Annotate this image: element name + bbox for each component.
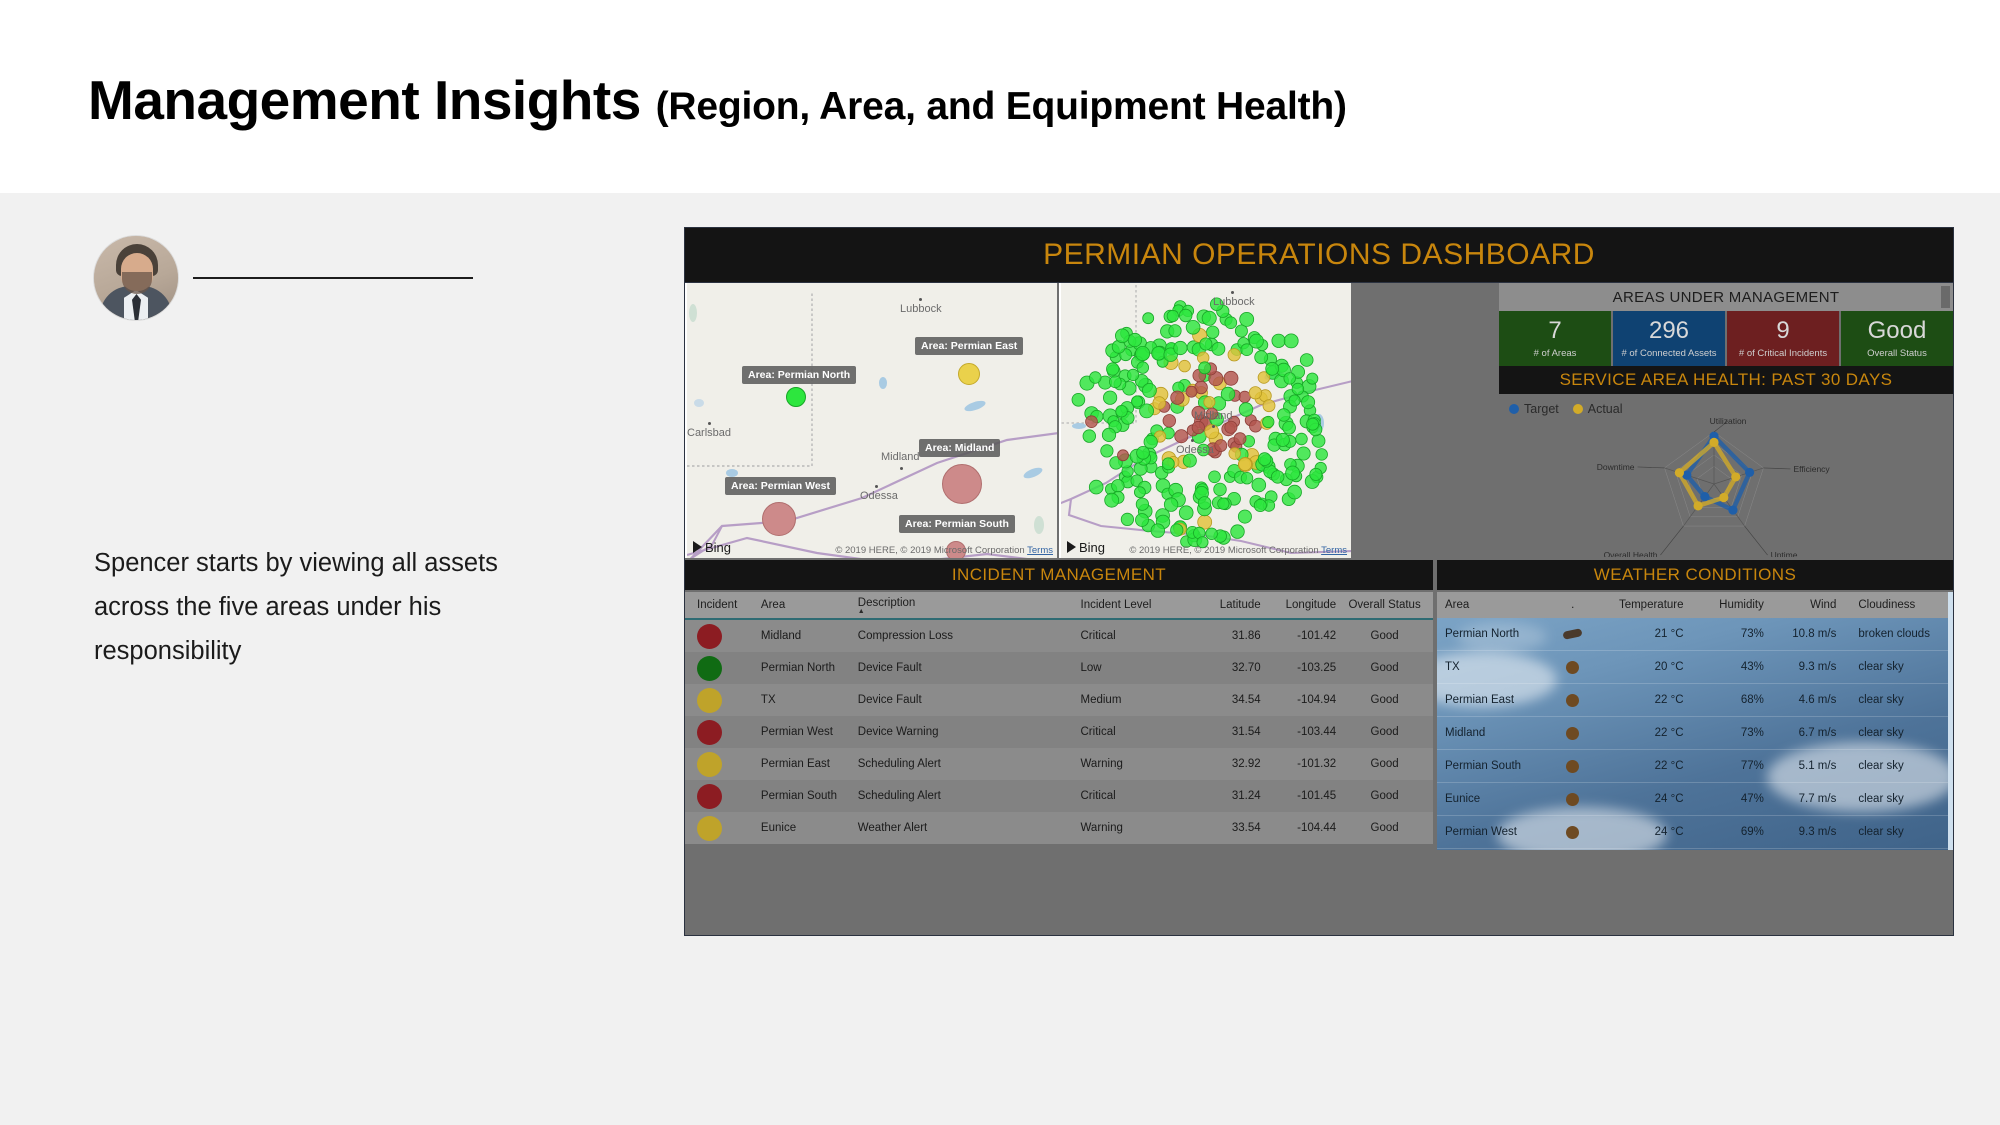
asset-dot[interactable]: [1144, 435, 1157, 448]
asset-dot[interactable]: [1198, 497, 1211, 510]
table-row[interactable]: Permian EastScheduling AlertWarning32.92…: [685, 748, 1433, 780]
cell-humidity: 77%: [1700, 760, 1774, 772]
service-area-health-header: SERVICE AREA HEALTH: PAST 30 DAYS: [1499, 366, 1953, 394]
asset-dot[interactable]: [1118, 450, 1129, 461]
cell-weather-area: TX: [1437, 661, 1536, 673]
radar-point-actual-3[interactable]: [1694, 501, 1703, 510]
avatar-row: [94, 236, 473, 320]
kpi-label: # of Areas: [1534, 348, 1577, 359]
sun-icon: [1566, 793, 1579, 806]
table-row[interactable]: Permian North21 °C73%10.8 m/sbroken clou…: [1437, 618, 1953, 651]
service-area-health-chart[interactable]: TargetActual UtilizationEfficiencyUptime…: [1499, 394, 1953, 558]
col-latitude[interactable]: Latitude: [1195, 599, 1261, 611]
asset-dot[interactable]: [1199, 362, 1211, 374]
asset-dot[interactable]: [1286, 466, 1300, 480]
weather-rows: Permian North21 °C73%10.8 m/sbroken clou…: [1437, 618, 1953, 849]
asset-dot[interactable]: [1102, 428, 1115, 441]
area-tag-permian-north[interactable]: Area: Permian North: [742, 366, 856, 384]
city-dot: [875, 485, 878, 488]
cell-weather-icon: [1536, 826, 1610, 839]
cell-area: Permian East: [761, 758, 858, 770]
incident-rows: MidlandCompression LossCritical31.86-101…: [685, 620, 1433, 844]
asset-dot[interactable]: [1228, 349, 1240, 361]
map-bubble-midland[interactable]: [942, 464, 982, 504]
cell-humidity: 47%: [1700, 793, 1774, 805]
asset-dot[interactable]: [1263, 416, 1274, 427]
asset-dot[interactable]: [1116, 405, 1128, 417]
cell-temperature: 21 °C: [1610, 628, 1700, 640]
areas-under-management-header: AREAS UNDER MANAGEMENT: [1499, 283, 1953, 311]
page-title-sub: (Region, Area, and Equipment Health): [656, 85, 1347, 128]
bottom-row: INCIDENT MANAGEMENT WEATHER CONDITIONS I…: [685, 560, 1953, 935]
weather-scrollbar[interactable]: [1948, 592, 1953, 850]
page-title: Management Insights (Region, Area, and E…: [88, 68, 1347, 132]
asset-dot[interactable]: [1083, 430, 1096, 443]
col-area[interactable]: Area: [761, 599, 858, 611]
city-label-odessa-2: Odessa: [1176, 444, 1214, 456]
asset-dot[interactable]: [1136, 514, 1149, 527]
asset-dot[interactable]: [1153, 397, 1166, 410]
asset-dot[interactable]: [1238, 510, 1251, 523]
cell-level: Warning: [1081, 758, 1195, 770]
cell-description: Compression Loss: [858, 630, 1081, 642]
asset-dot[interactable]: [1218, 498, 1229, 509]
area-tag-permian-south[interactable]: Area: Permian South: [899, 515, 1015, 533]
asset-dot[interactable]: [1307, 418, 1319, 430]
cell-weather-area: Permian East: [1437, 694, 1536, 706]
asset-dot[interactable]: [1169, 325, 1181, 337]
asset-dot[interactable]: [1115, 329, 1129, 343]
asset-dot[interactable]: [1241, 344, 1253, 356]
radar-label-leader: [1763, 468, 1790, 469]
cell-weather-icon: [1536, 727, 1610, 740]
city-dot: [919, 298, 922, 301]
asset-dot[interactable]: [1249, 387, 1261, 399]
asset-dot[interactable]: [1266, 362, 1279, 375]
asset-dot[interactable]: [1300, 354, 1313, 367]
cell-humidity: 69%: [1700, 826, 1774, 838]
cell-level: Medium: [1081, 694, 1195, 706]
radar-axis-label-utilization: Utilization: [1710, 416, 1747, 426]
cell-weather-area: Eunice: [1437, 793, 1536, 805]
asset-density-map[interactable]: Lubbock Midland Odessa Bing © 2019 HERE,…: [1059, 283, 1351, 558]
table-row[interactable]: Permian East22 °C68%4.6 m/sclear sky: [1437, 684, 1953, 717]
incident-management-table[interactable]: Incident Area Description▲ Incident Leve…: [685, 592, 1433, 844]
cell-status: Good: [1336, 694, 1433, 706]
kpi-value: 7: [1548, 319, 1561, 343]
incident-indicator-cell: [685, 656, 761, 681]
asset-dot[interactable]: [1209, 471, 1221, 483]
radar-point-target-2[interactable]: [1728, 505, 1737, 514]
status-led-icon: [697, 752, 722, 777]
asset-dot[interactable]: [1089, 480, 1103, 494]
cell-status: Good: [1336, 662, 1433, 674]
cell-description: Scheduling Alert: [858, 758, 1081, 770]
incident-table-header: Incident Area Description▲ Incident Leve…: [685, 592, 1433, 620]
asset-dot[interactable]: [1121, 513, 1133, 525]
incident-management-header: INCIDENT MANAGEMENT: [685, 560, 1433, 590]
cell-weather-area: Permian South: [1437, 760, 1536, 772]
cell-latitude: 33.54: [1195, 822, 1261, 834]
asset-dot[interactable]: [1241, 472, 1253, 484]
cell-wind: 6.7 m/s: [1774, 727, 1848, 739]
map-bubble-permian-north[interactable]: [786, 387, 806, 407]
table-row[interactable]: Permian West24 °C69%9.3 m/sclear sky: [1437, 816, 1953, 849]
weather-conditions-table[interactable]: Area . Temperature Humidity Wind Cloudin…: [1437, 592, 1953, 850]
cell-weather-area: Midland: [1437, 727, 1536, 739]
asset-dot[interactable]: [1167, 310, 1178, 321]
map-terms-link[interactable]: Terms: [1027, 545, 1053, 556]
status-led-icon: [697, 656, 722, 681]
incident-indicator-cell: [685, 752, 761, 777]
cell-weather-icon: [1536, 793, 1610, 806]
asset-dot[interactable]: [1164, 498, 1178, 512]
col-description-label: Description: [858, 597, 916, 609]
cell-status: Good: [1336, 822, 1433, 834]
asset-dot[interactable]: [1212, 342, 1225, 355]
col-temperature[interactable]: Temperature: [1610, 599, 1700, 611]
cell-level: Critical: [1081, 790, 1195, 802]
incident-indicator-cell: [685, 784, 761, 809]
asset-dot[interactable]: [1258, 453, 1271, 466]
map-terms-link[interactable]: Terms: [1321, 545, 1347, 556]
asset-dot[interactable]: [1283, 421, 1296, 434]
cell-level: Warning: [1081, 822, 1195, 834]
cell-cloudiness: clear sky: [1848, 727, 1953, 739]
asset-dot[interactable]: [1200, 338, 1212, 350]
status-led-icon: [697, 720, 722, 745]
asset-dot[interactable]: [1297, 447, 1310, 460]
col-weather-area[interactable]: Area: [1437, 599, 1536, 611]
asset-dot[interactable]: [1271, 471, 1284, 484]
cell-weather-icon: [1536, 694, 1610, 707]
asset-dot[interactable]: [1225, 317, 1237, 329]
cell-weather-icon: [1536, 628, 1610, 640]
asset-dot[interactable]: [1250, 420, 1262, 432]
asset-dot[interactable]: [1136, 346, 1150, 360]
asset-dot[interactable]: [1225, 421, 1237, 433]
cell-wind: 7.7 m/s: [1774, 793, 1848, 805]
asset-dot[interactable]: [1152, 347, 1166, 361]
radar-point-actual-1[interactable]: [1731, 472, 1740, 481]
asset-dot[interactable]: [1288, 485, 1302, 499]
asset-dot[interactable]: [1202, 311, 1216, 325]
asset-dot[interactable]: [1179, 360, 1191, 372]
cell-longitude: -104.94: [1261, 694, 1337, 706]
cell-wind: 4.6 m/s: [1774, 694, 1848, 706]
col-longitude[interactable]: Longitude: [1261, 599, 1337, 611]
asset-dot[interactable]: [1276, 433, 1289, 446]
cell-status: Good: [1336, 790, 1433, 802]
cell-description: Device Warning: [858, 726, 1081, 738]
cell-description: Weather Alert: [858, 822, 1081, 834]
asset-dot[interactable]: [1140, 404, 1154, 418]
cell-description: Device Fault: [858, 694, 1081, 706]
asset-dot[interactable]: [1207, 326, 1219, 338]
cell-latitude: 31.54: [1195, 726, 1261, 738]
panel-scrollbar[interactable]: [1941, 286, 1950, 308]
asset-dot[interactable]: [1214, 483, 1227, 496]
permian-operations-dashboard: PERMIAN OPERATIONS DASHBOARD: [685, 228, 1953, 935]
kpi-value: Good: [1868, 319, 1927, 343]
weather-table-header: Area . Temperature Humidity Wind Cloudin…: [1437, 592, 1953, 618]
sun-icon: [1566, 826, 1579, 839]
table-row[interactable]: TXDevice FaultMedium34.54-104.94Good: [685, 684, 1433, 716]
weather-conditions-header: WEATHER CONDITIONS: [1437, 560, 1953, 590]
table-row[interactable]: Midland22 °C73%6.7 m/sclear sky: [1437, 717, 1953, 750]
cell-weather-icon: [1536, 661, 1610, 674]
incident-indicator-cell: [685, 720, 761, 745]
asset-dot[interactable]: [1204, 397, 1215, 408]
asset-dot[interactable]: [1284, 373, 1296, 385]
cell-status: Good: [1336, 630, 1433, 642]
cell-cloudiness: clear sky: [1848, 793, 1953, 805]
asset-dot[interactable]: [1289, 395, 1300, 406]
asset-dot[interactable]: [1107, 363, 1119, 375]
incident-indicator-cell: [685, 624, 761, 649]
asset-dot[interactable]: [1186, 320, 1200, 334]
table-row[interactable]: Permian South22 °C77%5.1 m/sclear sky: [1437, 750, 1953, 783]
kpi-label: Overall Status: [1867, 348, 1927, 359]
map-attribution-left: © 2019 HERE, © 2019 Microsoft Corporatio…: [835, 545, 1053, 556]
radar-point-target-1[interactable]: [1745, 468, 1754, 477]
status-led-icon: [697, 816, 722, 841]
col-cloudiness[interactable]: Cloudiness: [1848, 599, 1953, 611]
asset-dot[interactable]: [1296, 433, 1308, 445]
cell-weather-icon: [1536, 760, 1610, 773]
cell-humidity: 43%: [1700, 661, 1774, 673]
cell-longitude: -103.25: [1261, 662, 1337, 674]
asset-dot[interactable]: [1192, 421, 1204, 433]
radar-point-actual-2[interactable]: [1719, 493, 1728, 502]
asset-dot[interactable]: [1101, 445, 1113, 457]
asset-dot[interactable]: [1284, 334, 1298, 348]
cell-temperature: 22 °C: [1610, 694, 1700, 706]
narration-column: Spencer starts by viewing all assets acr…: [0, 193, 685, 1125]
asset-dot[interactable]: [1162, 458, 1174, 470]
asset-dot[interactable]: [1302, 396, 1315, 409]
cell-weather-area: Permian North: [1437, 628, 1536, 640]
cell-latitude: 32.70: [1195, 662, 1261, 674]
asset-dot[interactable]: [1086, 416, 1098, 428]
cell-longitude: -103.44: [1261, 726, 1337, 738]
asset-dot[interactable]: [1174, 341, 1187, 354]
cell-temperature: 24 °C: [1610, 826, 1700, 838]
map-bubble-permian-east[interactable]: [958, 363, 980, 385]
asset-dot[interactable]: [1112, 480, 1125, 493]
asset-dot[interactable]: [1103, 391, 1116, 404]
radar-legend-item-target[interactable]: Target: [1509, 402, 1559, 416]
asset-dot[interactable]: [1235, 325, 1247, 337]
asset-dot[interactable]: [1310, 468, 1322, 480]
bing-label: Bing: [1079, 540, 1105, 555]
cell-longitude: -104.44: [1261, 822, 1337, 834]
asset-dot[interactable]: [1143, 313, 1154, 324]
map-bubble-permian-west[interactable]: [762, 502, 796, 536]
table-row[interactable]: Eunice24 °C47%7.7 m/sclear sky: [1437, 783, 1953, 816]
asset-dot[interactable]: [1137, 446, 1150, 459]
asset-dot[interactable]: [1312, 434, 1325, 447]
asset-dot[interactable]: [1224, 371, 1238, 385]
area-tag-permian-east[interactable]: Area: Permian East: [915, 337, 1023, 355]
incident-indicator-cell: [685, 688, 761, 713]
cell-status: Good: [1336, 758, 1433, 770]
radar-point-target-3[interactable]: [1700, 492, 1709, 501]
asset-dot[interactable]: [1137, 362, 1149, 374]
radar-axis-label-uptime: Uptime: [1771, 550, 1798, 557]
kpi-value: 9: [1776, 319, 1789, 343]
cell-longitude: -101.32: [1261, 758, 1337, 770]
incident-indicator-cell: [685, 816, 761, 841]
area-tag-permian-west[interactable]: Area: Permian West: [725, 477, 836, 495]
asset-dot[interactable]: [1278, 409, 1291, 422]
asset-dot[interactable]: [1109, 376, 1121, 388]
city-label-lubbock: Lubbock: [900, 303, 942, 315]
cell-wind: 9.3 m/s: [1774, 826, 1848, 838]
col-humidity[interactable]: Humidity: [1700, 599, 1774, 611]
cell-area: Permian South: [761, 790, 858, 802]
table-row[interactable]: Permian WestDevice WarningCritical31.54-…: [685, 716, 1433, 748]
legend-label: Target: [1524, 402, 1559, 416]
kpi-card-2[interactable]: 296# of Connected Assets: [1613, 311, 1727, 366]
asset-dot[interactable]: [1221, 387, 1235, 401]
city-label-midland-2: Midland: [1194, 410, 1233, 422]
slide-header: Management Insights (Region, Area, and E…: [0, 0, 2000, 193]
cell-temperature: 22 °C: [1610, 760, 1700, 772]
city-dot: [708, 422, 711, 425]
city-dot: [1212, 425, 1215, 428]
avatar: [94, 236, 178, 320]
cell-temperature: 22 °C: [1610, 727, 1700, 739]
narration-text: Spencer starts by viewing all assets acr…: [94, 541, 534, 673]
cell-latitude: 32.92: [1195, 758, 1261, 770]
col-incident-level[interactable]: Incident Level: [1081, 599, 1195, 611]
city-dot: [1191, 439, 1194, 442]
asset-dot[interactable]: [1175, 430, 1188, 443]
asset-dot[interactable]: [1252, 478, 1266, 492]
kpi-card-4[interactable]: GoodOverall Status: [1841, 311, 1953, 366]
asset-dot[interactable]: [1234, 433, 1246, 445]
sun-icon: [1566, 727, 1579, 740]
cell-latitude: 34.54: [1195, 694, 1261, 706]
asset-dot[interactable]: [1254, 499, 1266, 511]
asset-dot[interactable]: [1263, 400, 1275, 412]
cell-temperature: 24 °C: [1610, 793, 1700, 805]
asset-dot[interactable]: [1179, 309, 1192, 322]
asset-dot[interactable]: [1105, 493, 1119, 507]
legend-dot-icon: [1573, 404, 1583, 414]
asset-dot[interactable]: [1127, 369, 1138, 380]
table-row[interactable]: Permian SouthScheduling AlertCritical31.…: [685, 780, 1433, 812]
asset-dot[interactable]: [1272, 334, 1285, 347]
table-row[interactable]: MidlandCompression LossCritical31.86-101…: [685, 620, 1433, 652]
col-description[interactable]: Description▲: [858, 597, 1081, 614]
asset-dot[interactable]: [1171, 524, 1183, 536]
table-row[interactable]: Permian NorthDevice FaultLow32.70-103.25…: [685, 652, 1433, 684]
asset-dot[interactable]: [1307, 373, 1318, 384]
cell-area: Permian West: [761, 726, 858, 738]
radar-point-actual-4[interactable]: [1675, 468, 1684, 477]
asset-dot[interactable]: [1316, 449, 1328, 461]
asset-dot[interactable]: [1179, 506, 1193, 520]
cell-latitude: 31.86: [1195, 630, 1261, 642]
city-label-lubbock-2: Lubbock: [1213, 296, 1255, 308]
bing-logo-icon: Bing: [1067, 540, 1105, 555]
cell-level: Low: [1081, 662, 1195, 674]
asset-dot[interactable]: [1134, 487, 1145, 498]
asset-dot[interactable]: [1240, 312, 1254, 326]
cell-cloudiness: clear sky: [1848, 661, 1953, 673]
divider: [193, 277, 473, 279]
asset-dot[interactable]: [1292, 383, 1304, 395]
asset-dot[interactable]: [1239, 391, 1250, 402]
asset-dot[interactable]: [1239, 403, 1253, 417]
cell-cloudiness: clear sky: [1848, 826, 1953, 838]
col-wind[interactable]: Wind: [1774, 599, 1848, 611]
city-dot: [900, 467, 903, 470]
kpi-card-3[interactable]: 9# of Critical Incidents: [1727, 311, 1841, 366]
cell-weather-area: Permian West: [1437, 826, 1536, 838]
col-overall-status[interactable]: Overall Status: [1336, 599, 1433, 611]
radar-axis-label-efficiency: Efficiency: [1793, 464, 1830, 474]
cell-cloudiness: clear sky: [1848, 760, 1953, 772]
radar-point-actual-0[interactable]: [1709, 438, 1718, 447]
asset-dot[interactable]: [1255, 351, 1268, 364]
asset-dot[interactable]: [1142, 383, 1156, 397]
cell-level: Critical: [1081, 630, 1195, 642]
asset-dot[interactable]: [1128, 333, 1141, 346]
kpi-card-1[interactable]: 7# of Areas: [1499, 311, 1613, 366]
asset-dot[interactable]: [1171, 391, 1184, 404]
table-row[interactable]: EuniceWeather AlertWarning33.54-104.44Go…: [685, 812, 1433, 844]
city-label-carlsbad: Carlsbad: [687, 427, 731, 439]
area-tag-midland[interactable]: Area: Midland: [919, 439, 1000, 457]
area-bubble-map[interactable]: Lubbock Carlsbad Midland Odessa Area: Pe…: [685, 283, 1057, 558]
status-led-icon: [697, 688, 722, 713]
right-panel: AREAS UNDER MANAGEMENT 7# of Areas296# o…: [1499, 283, 1953, 558]
asset-dot[interactable]: [1072, 393, 1085, 406]
asset-dot[interactable]: [1229, 448, 1241, 460]
radar-axis-label-overall-health: Overall Health: [1604, 550, 1658, 557]
asset-dot[interactable]: [1239, 458, 1252, 471]
cell-status: Good: [1336, 726, 1433, 738]
col-incident[interactable]: Incident: [685, 599, 761, 611]
sun-icon: [1566, 760, 1579, 773]
asset-dot[interactable]: [1215, 440, 1227, 452]
map-attribution-text: © 2019 HERE, © 2019 Microsoft Corporatio…: [1129, 545, 1318, 556]
cell-level: Critical: [1081, 726, 1195, 738]
status-led-icon: [697, 784, 722, 809]
cell-cloudiness: broken clouds: [1848, 628, 1953, 640]
page-title-main: Management Insights: [88, 69, 656, 131]
cell-area: Midland: [761, 630, 858, 642]
table-row[interactable]: TX20 °C43%9.3 m/sclear sky: [1437, 651, 1953, 684]
sun-icon: [1566, 661, 1579, 674]
asset-dot[interactable]: [1136, 498, 1148, 510]
cell-humidity: 73%: [1700, 628, 1774, 640]
asset-dot[interactable]: [1163, 415, 1176, 428]
city-label-odessa: Odessa: [860, 490, 898, 502]
cell-humidity: 73%: [1700, 727, 1774, 739]
asset-dot[interactable]: [1186, 386, 1197, 397]
kpi-label: # of Critical Incidents: [1739, 348, 1827, 359]
col-weather-icon[interactable]: .: [1536, 599, 1610, 611]
cell-description: Device Fault: [858, 662, 1081, 674]
kpi-row: 7# of Areas296# of Connected Assets9# of…: [1499, 311, 1953, 366]
kpi-value: 296: [1649, 319, 1689, 343]
asset-dot[interactable]: [1090, 372, 1102, 384]
cell-area: TX: [761, 694, 858, 706]
